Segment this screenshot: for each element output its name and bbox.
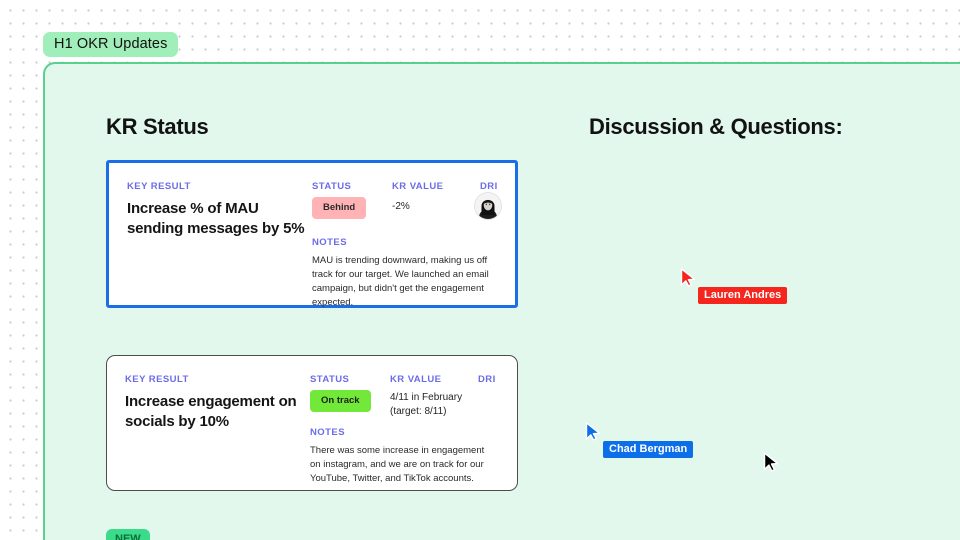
column-header-key-result: KEY RESULT [125, 374, 189, 385]
column-header-dri: DRI [480, 181, 498, 192]
column-header-status: STATUS [312, 181, 351, 192]
column-header-dri: DRI [478, 374, 496, 385]
kr-title: Increase % of MAU sending messages by 5% [127, 199, 309, 239]
board-panel[interactable]: KR Status Discussion & Questions: KEY RE… [43, 62, 960, 540]
collaborator-name-label: Lauren Andres [698, 287, 787, 304]
kr-card[interactable]: KEY RESULT STATUS KR VALUE DRI Increase … [106, 355, 518, 491]
column-header-status: STATUS [310, 374, 349, 385]
status-badge[interactable]: On track [310, 390, 371, 412]
avatar-photo-icon [475, 193, 501, 219]
collaborator-cursor-lauren-andres: Lauren Andres [680, 268, 697, 287]
kr-value: 4/11 in February (target: 8/11) [390, 391, 462, 419]
collaborator-name-label: Chad Bergman [603, 441, 693, 458]
kr-card[interactable]: KEY RESULT STATUS KR VALUE DRI Increase … [106, 160, 518, 308]
page-title-discussion: Discussion & Questions: [589, 114, 842, 140]
column-header-kr-value: KR VALUE [392, 181, 443, 192]
column-header-key-result: KEY RESULT [127, 181, 191, 192]
kr-value: -2% [392, 200, 410, 214]
kr-notes: MAU is trending downward, making us off … [312, 254, 490, 309]
column-header-notes: NOTES [310, 427, 345, 438]
kr-notes: There was some increase in engagement on… [310, 444, 488, 486]
kr-title: Increase engagement on socials by 10% [125, 392, 307, 432]
avatar[interactable] [474, 192, 502, 220]
infinite-canvas[interactable]: H1 OKR Updates KR Status Discussion & Qu… [0, 0, 960, 540]
collaborator-cursor-chad-bergman: Chad Bergman [585, 422, 602, 441]
column-header-notes: NOTES [312, 237, 347, 248]
page-title-kr-status: KR Status [106, 114, 208, 140]
frame-label[interactable]: H1 OKR Updates [43, 32, 178, 57]
status-badge[interactable]: Behind [312, 197, 366, 219]
column-header-kr-value: KR VALUE [390, 374, 441, 385]
arrow-pointer-icon [763, 452, 779, 472]
system-cursor [763, 452, 779, 477]
bottom-status-badge[interactable]: NEW [106, 529, 150, 540]
cursor-arrow-icon [680, 268, 697, 287]
cursor-arrow-icon [585, 422, 602, 441]
